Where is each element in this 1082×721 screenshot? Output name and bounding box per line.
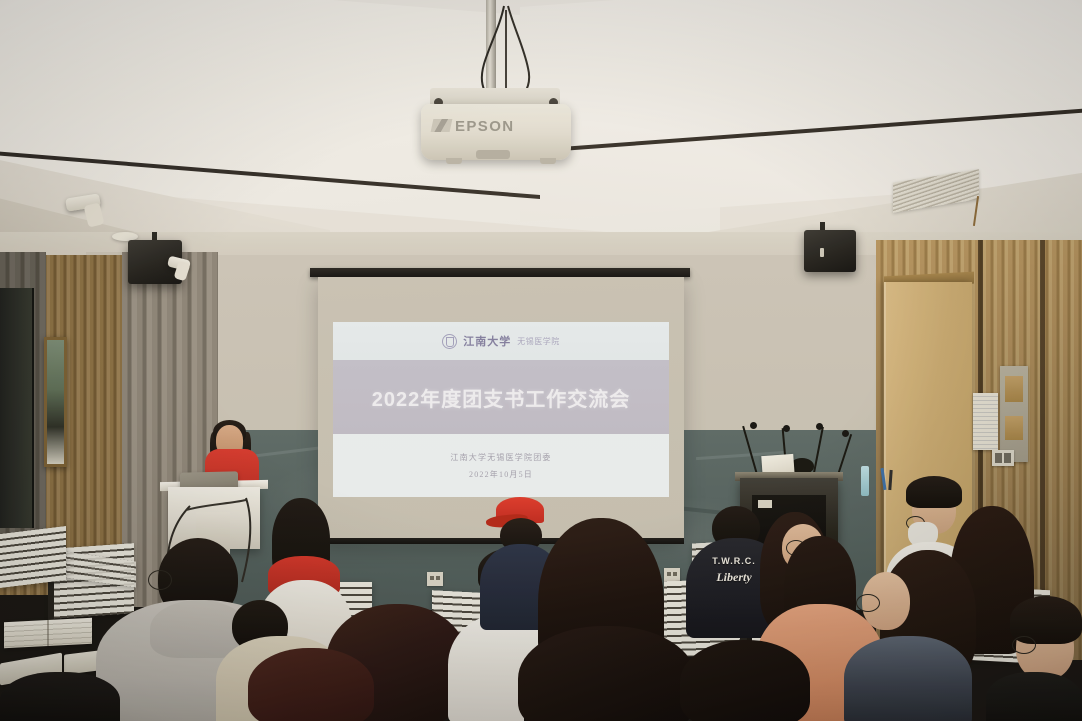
eyeglasses xyxy=(148,570,172,590)
epson-logo-icon xyxy=(431,119,453,132)
lecture-chair[interactable] xyxy=(0,526,66,588)
slide-logo-secondary: 无锡医学院 xyxy=(517,336,560,347)
lecture-hall-photo: EPSON xyxy=(0,0,1082,721)
water-bottle xyxy=(861,466,869,496)
window-frame xyxy=(0,288,34,528)
slide-logo-primary: 江南大学 xyxy=(463,333,511,349)
projector-cable xyxy=(470,4,540,96)
open-notebook xyxy=(4,618,92,649)
evacuation-notice-poster xyxy=(973,393,998,450)
artwork-canvas xyxy=(47,340,64,464)
speaker-led-icon xyxy=(820,248,824,257)
eyeglasses xyxy=(1012,636,1036,654)
slide-date: 2022年10月5日 xyxy=(469,469,533,480)
wall-plate-window xyxy=(1005,416,1023,440)
outlet-slot xyxy=(667,572,671,576)
slide-title-band: 2022年度团支书工作交流会 xyxy=(333,360,669,434)
slide-organization: 江南大学无锡医学院团委 xyxy=(450,452,551,463)
microphone-head-icon xyxy=(842,430,849,437)
framed-artwork xyxy=(44,337,67,467)
switch-rocker[interactable] xyxy=(1004,453,1011,463)
torso xyxy=(844,636,972,721)
rack-label xyxy=(758,500,772,508)
microphone-head-icon xyxy=(816,423,823,430)
presentation-slide: 江南大学 无锡医学院 2022年度团支书工作交流会 江南大学无锡医学院团委 20… xyxy=(333,322,669,497)
slide-title: 2022年度团支书工作交流会 xyxy=(372,383,631,412)
hair xyxy=(518,626,696,721)
projection-screen-case xyxy=(310,268,690,277)
outlet-slot xyxy=(673,572,677,576)
notebook-spine xyxy=(47,620,49,646)
wall-plate-window xyxy=(1005,376,1023,402)
university-seal-icon xyxy=(442,334,457,349)
switch-rocker[interactable] xyxy=(995,453,1002,463)
projector-foot xyxy=(446,158,462,164)
slide-footer: 江南大学无锡医学院团委 2022年10月5日 xyxy=(333,434,669,497)
projector-brand-label: EPSON xyxy=(455,118,545,135)
ceiling-speaker-right xyxy=(804,230,856,272)
torso xyxy=(986,672,1082,721)
slide-header: 江南大学 无锡医学院 xyxy=(333,322,669,360)
projector-lens-icon xyxy=(476,150,510,159)
microphone-head-icon xyxy=(750,422,757,429)
light-switch-plate[interactable] xyxy=(992,450,1014,466)
poster-text-lines xyxy=(973,393,998,450)
hair xyxy=(680,640,810,721)
eyeglasses xyxy=(856,594,880,612)
outlet-slot xyxy=(430,576,434,580)
power-outlet[interactable] xyxy=(427,572,443,586)
projector-foot xyxy=(540,158,556,164)
torso xyxy=(0,672,120,721)
hair xyxy=(248,648,374,721)
outlet-slot xyxy=(436,576,440,580)
microphone-head-icon xyxy=(783,425,790,432)
hair xyxy=(906,476,962,508)
